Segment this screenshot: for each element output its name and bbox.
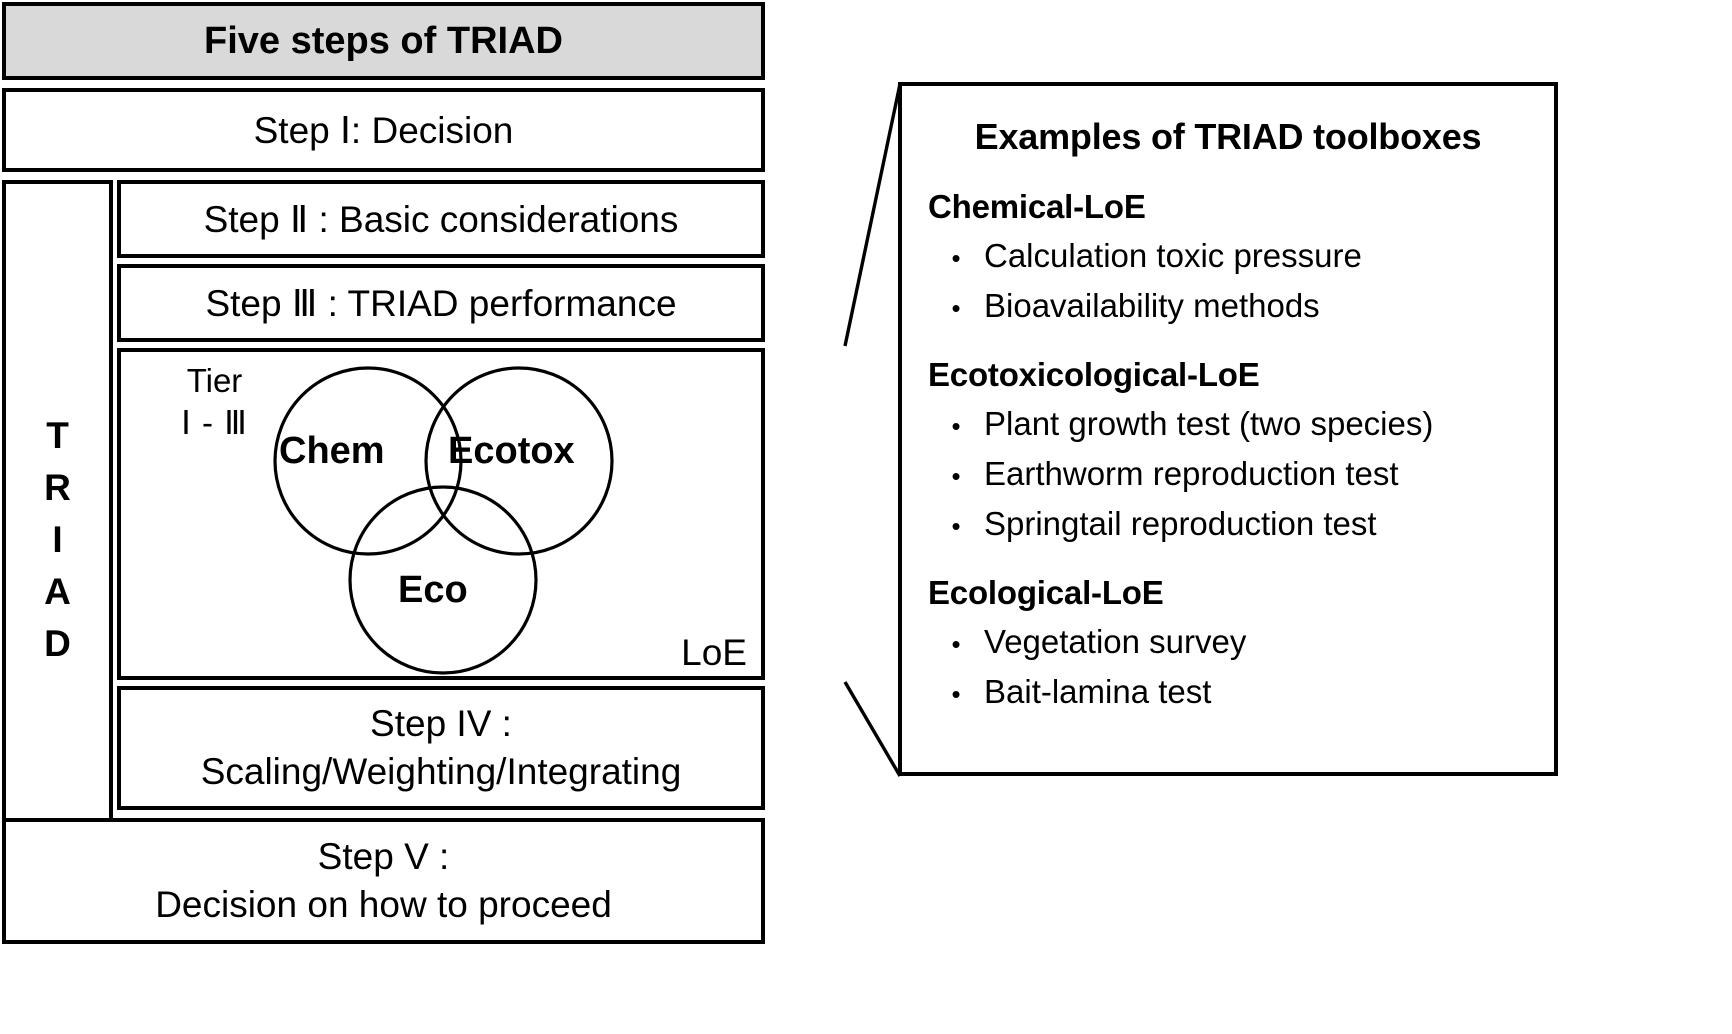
- tier-venn-box: Tier Ⅰ - Ⅲ Chem Ecotox Eco LoE: [117, 348, 765, 680]
- loe-item-text: Vegetation survey: [984, 618, 1246, 666]
- venn-diagram-icon: [261, 356, 641, 678]
- loe-label: LoE: [681, 632, 747, 674]
- loe-list-item: • Bait-lamina test: [928, 668, 1528, 718]
- triad-letter-t: T: [46, 410, 69, 462]
- step-2-label: Step Ⅱ : Basic considerations: [204, 198, 679, 241]
- loe-list-item: • Plant growth test (two species): [928, 400, 1528, 450]
- loe-item-text: Springtail reproduction test: [984, 500, 1377, 548]
- loe-item-text: Calculation toxic pressure: [984, 232, 1362, 280]
- loe-group-ecotoxicological: Ecotoxicological-LoE • Plant growth test…: [928, 356, 1528, 550]
- loe-group-heading: Chemical-LoE: [928, 188, 1528, 226]
- triad-letter-r: R: [44, 462, 71, 514]
- loe-item-text: Plant growth test (two species): [984, 400, 1433, 448]
- loe-group-chemical: Chemical-LoE • Calculation toxic pressur…: [928, 188, 1528, 332]
- loe-group-heading: Ecological-LoE: [928, 574, 1528, 612]
- bullet-icon: •: [928, 620, 984, 668]
- triad-letter-i: I: [52, 514, 62, 566]
- triad-letter-d: D: [44, 618, 71, 670]
- bullet-icon: •: [928, 402, 984, 450]
- bullet-icon: •: [928, 502, 984, 550]
- triad-vertical-column: T R I A D: [2, 180, 113, 896]
- triad-diagram: Five steps of TRIAD Step Ⅰ: Decision T R…: [0, 0, 1732, 1034]
- step-3-box: Step Ⅲ : TRIAD performance: [117, 264, 765, 342]
- step-4-label-line1: Step IV :: [370, 700, 512, 748]
- loe-list-item: • Earthworm reproduction test: [928, 450, 1528, 500]
- step-4-label-line2: Scaling/Weighting/Integrating: [201, 748, 682, 796]
- step-1-box: Step Ⅰ: Decision: [2, 88, 765, 172]
- bullet-icon: •: [928, 234, 984, 282]
- loe-list-item: • Vegetation survey: [928, 618, 1528, 668]
- loe-group-heading: Ecotoxicological-LoE: [928, 356, 1528, 394]
- venn-label-eco: Eco: [398, 569, 468, 612]
- step-3-label: Step Ⅲ : TRIAD performance: [205, 282, 676, 325]
- page-title: Five steps of TRIAD: [204, 20, 563, 63]
- loe-list-item: • Springtail reproduction test: [928, 500, 1528, 550]
- loe-group-ecological: Ecological-LoE • Vegetation survey • Bai…: [928, 574, 1528, 718]
- step-1-label: Step Ⅰ: Decision: [254, 109, 514, 152]
- venn-label-chem: Chem: [279, 430, 385, 473]
- step-5-box: Step V : Decision on how to proceed: [2, 818, 765, 944]
- bullet-icon: •: [928, 670, 984, 718]
- loe-item-text: Bioavailability methods: [984, 282, 1320, 330]
- header-title-box: Five steps of TRIAD: [2, 2, 765, 80]
- step-4-box: Step IV : Scaling/Weighting/Integrating: [117, 686, 765, 810]
- loe-item-text: Bait-lamina test: [984, 668, 1211, 716]
- toolboxes-title: Examples of TRIAD toolboxes: [928, 116, 1528, 158]
- toolboxes-panel: Examples of TRIAD toolboxes Chemical-LoE…: [898, 82, 1558, 776]
- bullet-icon: •: [928, 284, 984, 332]
- loe-item-text: Earthworm reproduction test: [984, 450, 1399, 498]
- venn-label-ecotox: Ecotox: [448, 430, 575, 473]
- bullet-icon: •: [928, 452, 984, 500]
- step-5-label-line1: Step V :: [318, 833, 450, 881]
- step-5-label-line2: Decision on how to proceed: [155, 881, 612, 929]
- loe-list-item: • Bioavailability methods: [928, 282, 1528, 332]
- step-2-box: Step Ⅱ : Basic considerations: [117, 180, 765, 258]
- triad-letter-a: A: [44, 566, 71, 618]
- tier-label-line1: Tier: [187, 362, 243, 399]
- loe-list-item: • Calculation toxic pressure: [928, 232, 1528, 282]
